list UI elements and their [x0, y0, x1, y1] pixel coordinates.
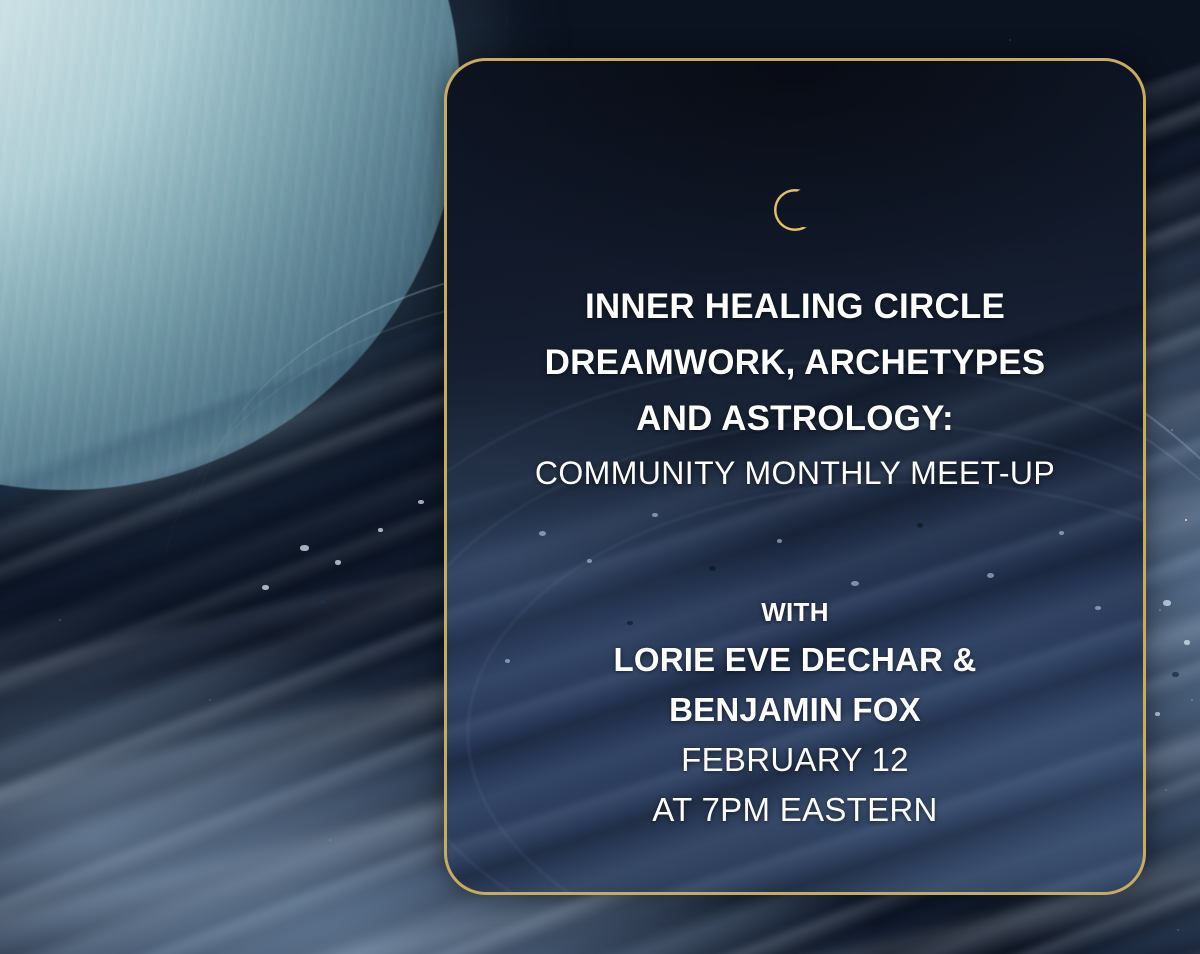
debris-rock [335, 560, 341, 565]
planet-graphic [0, 0, 460, 490]
debris-rock [1184, 640, 1190, 645]
subtitle: COMMUNITY MONTHLY MEET-UP [473, 447, 1117, 499]
debris-rock [1172, 672, 1179, 677]
presenter-line-2: BENJAMIN FOX [473, 685, 1117, 735]
with-label: WITH [473, 589, 1117, 635]
debris-rock [320, 600, 326, 604]
debris-rock [378, 528, 383, 532]
debris-rock [262, 585, 269, 590]
debris-rock [300, 545, 309, 551]
title-line-1: INNER HEALING CIRCLE [473, 279, 1117, 335]
debris-rock [1163, 600, 1171, 606]
title-line-3: AND ASTROLOGY: [473, 391, 1117, 447]
event-poster: INNER HEALING CIRCLE DREAMWORK, ARCHETYP… [0, 0, 1200, 954]
moon-icon-wrap [473, 181, 1117, 239]
planet-shading [0, 0, 460, 490]
crescent-moon-icon [767, 182, 823, 238]
title-block: INNER HEALING CIRCLE DREAMWORK, ARCHETYP… [473, 279, 1117, 499]
event-time: AT 7PM EASTERN [473, 785, 1117, 835]
event-date: FEBRUARY 12 [473, 735, 1117, 785]
card-content: INNER HEALING CIRCLE DREAMWORK, ARCHETYP… [447, 181, 1143, 895]
debris-rock [1155, 712, 1160, 716]
title-line-2: DREAMWORK, ARCHETYPES [473, 335, 1117, 391]
announcement-card: INNER HEALING CIRCLE DREAMWORK, ARCHETYP… [444, 58, 1146, 895]
debris-rock [418, 500, 424, 504]
presenter-block: WITH LORIE EVE DECHAR & BENJAMIN FOX FEB… [473, 589, 1117, 835]
planet-texture [0, 0, 460, 490]
presenter-line-1: LORIE EVE DECHAR & [473, 635, 1117, 685]
